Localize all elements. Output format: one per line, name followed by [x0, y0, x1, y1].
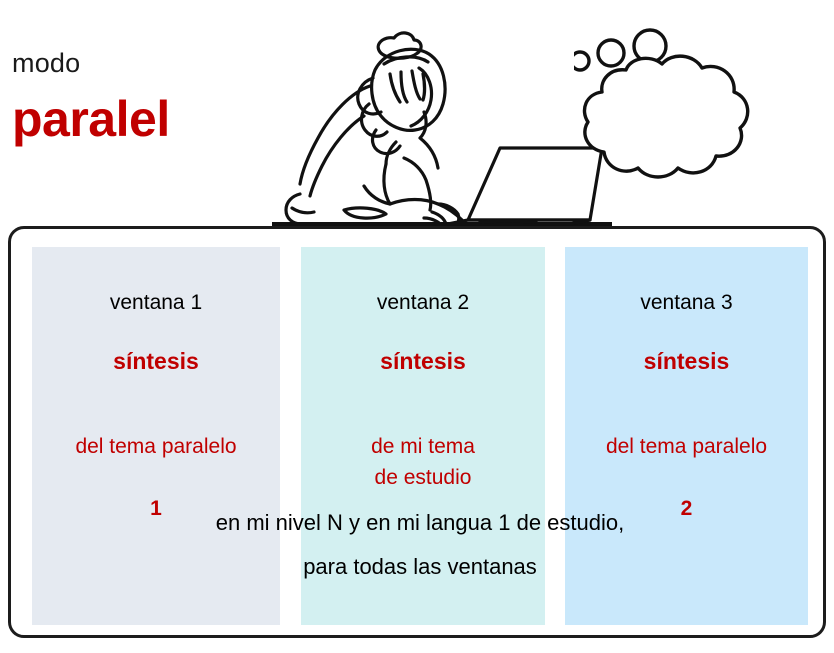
- window-1-heading: ventana 1: [32, 291, 280, 315]
- window-1-synthesis: síntesis: [32, 348, 280, 374]
- window-3-number: 2: [681, 497, 693, 520]
- window-2-heading: ventana 2: [301, 291, 545, 315]
- window-2-synthesis: síntesis: [301, 348, 545, 374]
- header-area: modo paralel: [0, 0, 834, 225]
- mode-title: paralel: [12, 91, 170, 147]
- window-column-3[interactable]: ventana 3 síntesis del tema paralelo 2: [565, 247, 808, 625]
- window-3-description: del tema paralelo 2: [565, 400, 808, 524]
- window-1-description-text: del tema paralelo: [75, 435, 236, 458]
- window-column-1[interactable]: ventana 1 síntesis del tema paralelo 1: [32, 247, 280, 625]
- window-2-description-text: de mi tema de estudio: [371, 435, 475, 489]
- window-3-description-text: del tema paralelo: [606, 435, 767, 458]
- window-1-description: del tema paralelo 1: [32, 400, 280, 524]
- window-3-synthesis: síntesis: [565, 348, 808, 374]
- window-1-number: 1: [150, 497, 162, 520]
- window-3-heading: ventana 3: [565, 291, 808, 315]
- mode-label: modo: [12, 48, 80, 78]
- window-column-2[interactable]: ventana 2 síntesis de mi tema de estudio: [301, 247, 545, 625]
- window-2-description: de mi tema de estudio: [301, 400, 545, 493]
- person-studying-at-laptop-illustration: [272, 8, 612, 226]
- windows-panel: ventana 1 síntesis del tema paralelo 1 v…: [8, 226, 826, 638]
- thought-bubble-cloud: aprendo mejor en comparación: [574, 8, 826, 180]
